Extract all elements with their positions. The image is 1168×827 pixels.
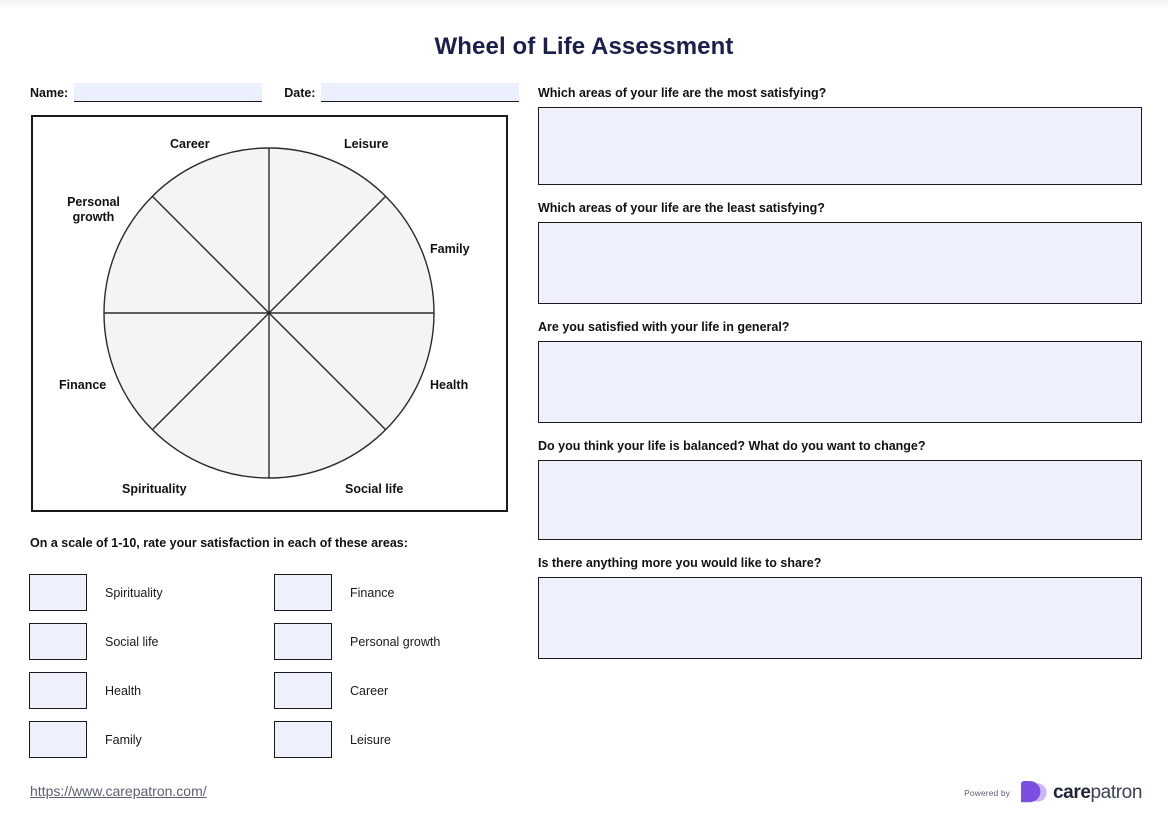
rating-instruction: On a scale of 1-10, rate your satisfacti… (30, 536, 408, 550)
wheel-label-health: Health (430, 378, 468, 393)
rating-input-personal-growth[interactable] (274, 623, 332, 660)
rating-label-social-life: Social life (105, 635, 159, 649)
powered-by-label: Powered by (964, 788, 1010, 798)
answer-input-anything-more[interactable] (538, 577, 1142, 659)
rating-label-personal-growth: Personal growth (350, 635, 440, 649)
wheel-label-social-life: Social life (345, 482, 403, 497)
rating-input-health[interactable] (29, 672, 87, 709)
rating-input-career[interactable] (274, 672, 332, 709)
question-block-most-satisfying: Which areas of your life are the most sa… (538, 86, 1142, 185)
rating-label-health: Health (105, 684, 141, 698)
question-block-balanced: Do you think your life is balanced? What… (538, 439, 1142, 540)
wheel-of-life-panel: Career Leisure Personal growth Family Fi… (31, 115, 508, 512)
rating-item-spirituality: Spirituality (29, 568, 264, 617)
question-label-anything-more: Is there anything more you would like to… (538, 556, 1142, 570)
rating-input-spirituality[interactable] (29, 574, 87, 611)
wheel-label-personal-growth: Personal growth (46, 195, 141, 225)
rating-label-leisure: Leisure (350, 733, 391, 747)
rating-label-career: Career (350, 684, 388, 698)
rating-input-social-life[interactable] (29, 623, 87, 660)
rating-item-leisure: Leisure (274, 715, 509, 764)
wheel-label-leisure: Leisure (344, 137, 388, 152)
document-page: Wheel of Life Assessment Name: Date: Car… (0, 0, 1168, 827)
question-block-anything-more: Is there anything more you would like to… (538, 556, 1142, 659)
date-input[interactable] (321, 83, 519, 102)
question-block-satisfied-general: Are you satisfied with your life in gene… (538, 320, 1142, 423)
wheel-label-spirituality: Spirituality (122, 482, 187, 497)
rating-item-family: Family (29, 715, 264, 764)
question-label-balanced: Do you think your life is balanced? What… (538, 439, 1142, 453)
wheel-label-finance: Finance (59, 378, 106, 393)
questions-column: Which areas of your life are the most sa… (538, 86, 1142, 675)
rating-item-personal-growth: Personal growth (274, 617, 509, 666)
name-input[interactable] (74, 83, 262, 102)
carepatron-logo-icon (1017, 780, 1047, 805)
answer-input-balanced[interactable] (538, 460, 1142, 540)
page-top-strip (0, 0, 1168, 9)
answer-input-most-satisfying[interactable] (538, 107, 1142, 185)
rating-label-finance: Finance (350, 586, 394, 600)
identity-row: Name: Date: (30, 83, 519, 102)
name-label: Name: (30, 86, 68, 102)
rating-input-finance[interactable] (274, 574, 332, 611)
rating-input-leisure[interactable] (274, 721, 332, 758)
wheel-of-life-diagram[interactable] (33, 117, 506, 510)
rating-label-family: Family (105, 733, 142, 747)
page-title: Wheel of Life Assessment (0, 33, 1168, 61)
rating-item-finance: Finance (274, 568, 509, 617)
question-label-satisfied-general: Are you satisfied with your life in gene… (538, 320, 1142, 334)
wheel-label-career: Career (170, 137, 210, 152)
rating-label-spirituality: Spirituality (105, 586, 163, 600)
carepatron-wordmark: carepatron (1053, 782, 1142, 804)
rating-item-health: Health (29, 666, 264, 715)
carepatron-branding: Powered by carepatron (964, 780, 1142, 805)
rating-grid: Spirituality Finance Social life Persona… (29, 568, 509, 764)
brand-patron: patron (1091, 782, 1142, 803)
footer-url-link[interactable]: https://www.carepatron.com/ (30, 783, 207, 799)
wheel-label-family: Family (430, 242, 470, 257)
question-label-least-satisfying: Which areas of your life are the least s… (538, 201, 1142, 215)
date-label: Date: (284, 86, 315, 102)
answer-input-satisfied-general[interactable] (538, 341, 1142, 423)
rating-item-social-life: Social life (29, 617, 264, 666)
question-block-least-satisfying: Which areas of your life are the least s… (538, 201, 1142, 304)
question-label-most-satisfying: Which areas of your life are the most sa… (538, 86, 1142, 100)
brand-care: care (1053, 782, 1091, 803)
answer-input-least-satisfying[interactable] (538, 222, 1142, 304)
rating-item-career: Career (274, 666, 509, 715)
rating-input-family[interactable] (29, 721, 87, 758)
